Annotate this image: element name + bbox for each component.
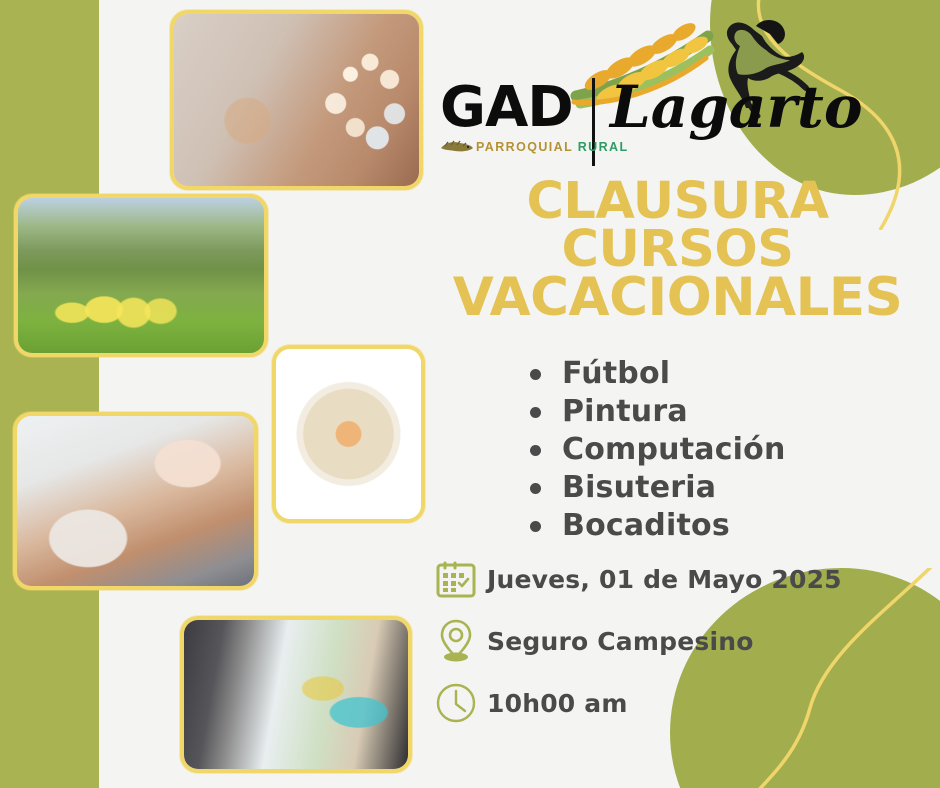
bullet-dot-icon (530, 483, 541, 494)
painting-photo-image (17, 416, 254, 586)
logo-subtitle-rural: RURAL (578, 140, 629, 154)
clock-icon (434, 681, 478, 725)
course-label: Computación (562, 431, 786, 469)
poster-canvas: GAD PARROQUIAL RURAL Lagarto CLAUSURA CU… (0, 0, 940, 788)
painting-photo (13, 412, 258, 590)
snacks-photo-image (276, 349, 421, 519)
event-time-row: 10h00 am (425, 672, 925, 734)
snacks-photo (272, 345, 425, 523)
course-label: Bocaditos (562, 507, 730, 545)
list-item: Fútbol (530, 355, 786, 393)
list-item: Bocaditos (530, 507, 786, 545)
computers-photo-image (184, 620, 408, 769)
location-pin-icon-wrap (425, 618, 487, 664)
soccer-photo (14, 194, 268, 357)
event-location-text: Seguro Campesino (487, 627, 754, 656)
gad-lagarto-logo: GAD PARROQUIAL RURAL Lagarto (440, 18, 800, 163)
bullet-dot-icon (530, 445, 541, 456)
jewelry-photo (170, 10, 423, 190)
calendar-icon (434, 557, 478, 601)
logo-script-text: Lagarto (610, 78, 863, 136)
course-list: Fútbol Pintura Computación Bisuteria Boc… (530, 355, 786, 545)
event-date-text: Jueves, 01 de Mayo 2025 (487, 565, 842, 594)
bullet-dot-icon (530, 407, 541, 418)
logo-subtitle-parroquial: PARROQUIAL (476, 140, 573, 154)
logo-subtitle: PARROQUIAL RURAL (476, 140, 629, 154)
soccer-photo-image (18, 198, 264, 353)
event-location-row: Seguro Campesino (425, 610, 925, 672)
course-label: Pintura (562, 393, 688, 431)
computers-photo (180, 616, 412, 773)
list-item: Computación (530, 431, 786, 469)
crocodile-icon (440, 136, 474, 156)
title-line-3: VACACIONALES (415, 274, 940, 322)
bullet-dot-icon (530, 521, 541, 532)
event-time-text: 10h00 am (487, 689, 628, 718)
event-details: Jueves, 01 de Mayo 2025 Seguro Campesino (425, 548, 925, 734)
course-label: Bisuteria (562, 469, 716, 507)
list-item: Bisuteria (530, 469, 786, 507)
clock-icon-wrap (425, 681, 487, 725)
logo-gad-text: GAD (440, 80, 573, 136)
content-column: GAD PARROQUIAL RURAL Lagarto CLAUSURA CU… (420, 0, 940, 788)
list-item: Pintura (530, 393, 786, 431)
bullet-dot-icon (530, 369, 541, 380)
jewelry-photo-image (174, 14, 419, 186)
page-title: CLAUSURA CURSOS VACACIONALES (415, 178, 940, 322)
title-line-1: CLAUSURA (415, 178, 940, 226)
left-olive-band (0, 0, 99, 788)
course-label: Fútbol (562, 355, 670, 393)
event-date-row: Jueves, 01 de Mayo 2025 (425, 548, 925, 610)
location-pin-icon (434, 618, 478, 664)
calendar-icon-wrap (425, 557, 487, 601)
